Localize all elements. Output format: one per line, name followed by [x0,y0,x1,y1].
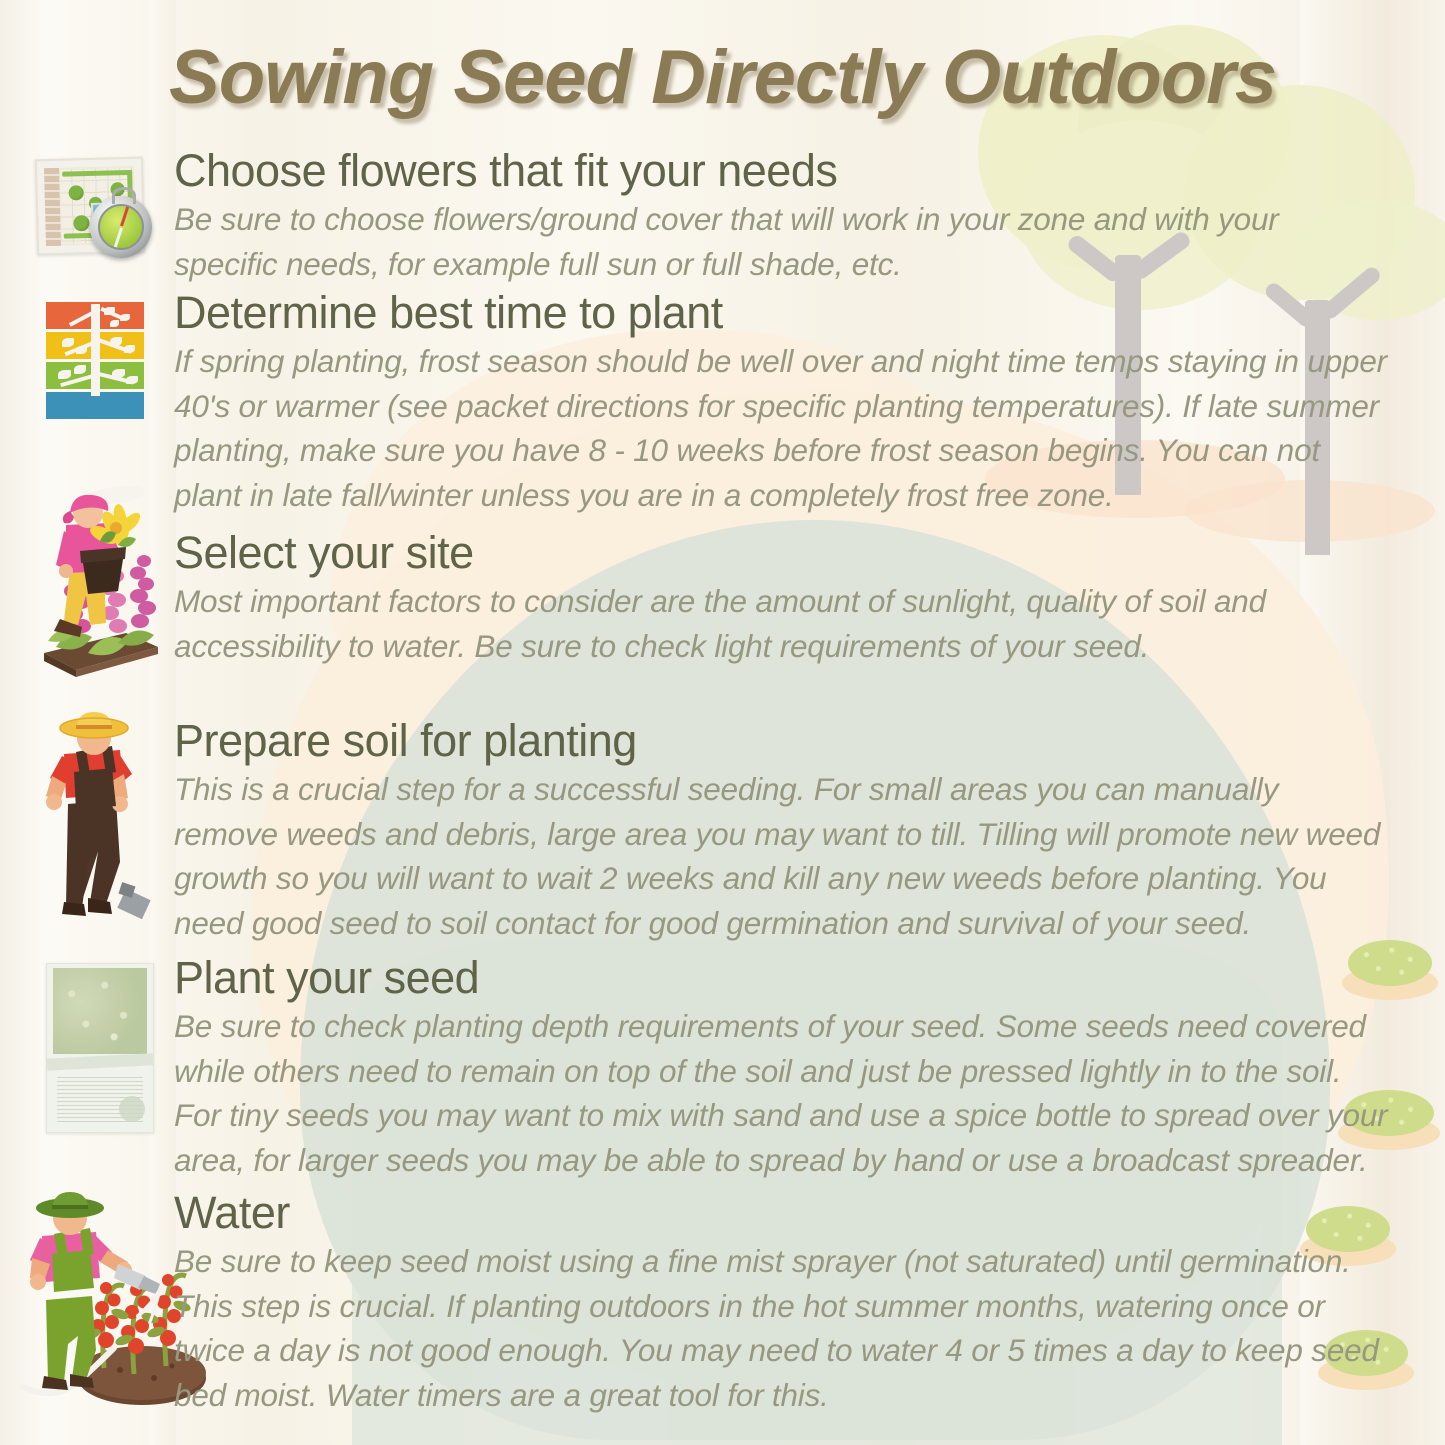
step-body: Most important factors to consider are t… [174,579,1389,668]
four-seasons-tree-icon [36,298,156,438]
step-heading: Plant your seed [174,955,1389,1002]
farmer-shovel-svg [32,712,172,924]
step-heading: Prepare soil for planting [174,718,1389,765]
step-body: Be sure to choose flowers/ground cover t… [174,197,1389,286]
step-heading: Water [174,1190,1389,1237]
step-heading: Choose flowers that fit your needs [174,148,1389,195]
step-body: If spring planting, frost season should … [174,339,1389,518]
infographic-poster: Sowing Seed Directly Outdoors [0,0,1445,1445]
gardener-with-potted-flower-icon [26,495,176,680]
seed-packet-icon [40,961,170,1141]
step-heading: Determine best time to plant [174,290,1389,337]
step-body: Be sure to check planting depth requirem… [174,1004,1389,1183]
gardener-potted-flower-svg [26,495,176,680]
page-title: Sowing Seed Directly Outdoors [0,34,1445,121]
step-body: This is a crucial step for a successful … [174,767,1389,946]
farmer-with-shovel-icon [32,712,172,924]
step-heading: Select your site [174,530,1389,577]
step-body: Be sure to keep seed moist using a fine … [174,1239,1389,1418]
garden-plan-compass-icon [32,152,152,272]
